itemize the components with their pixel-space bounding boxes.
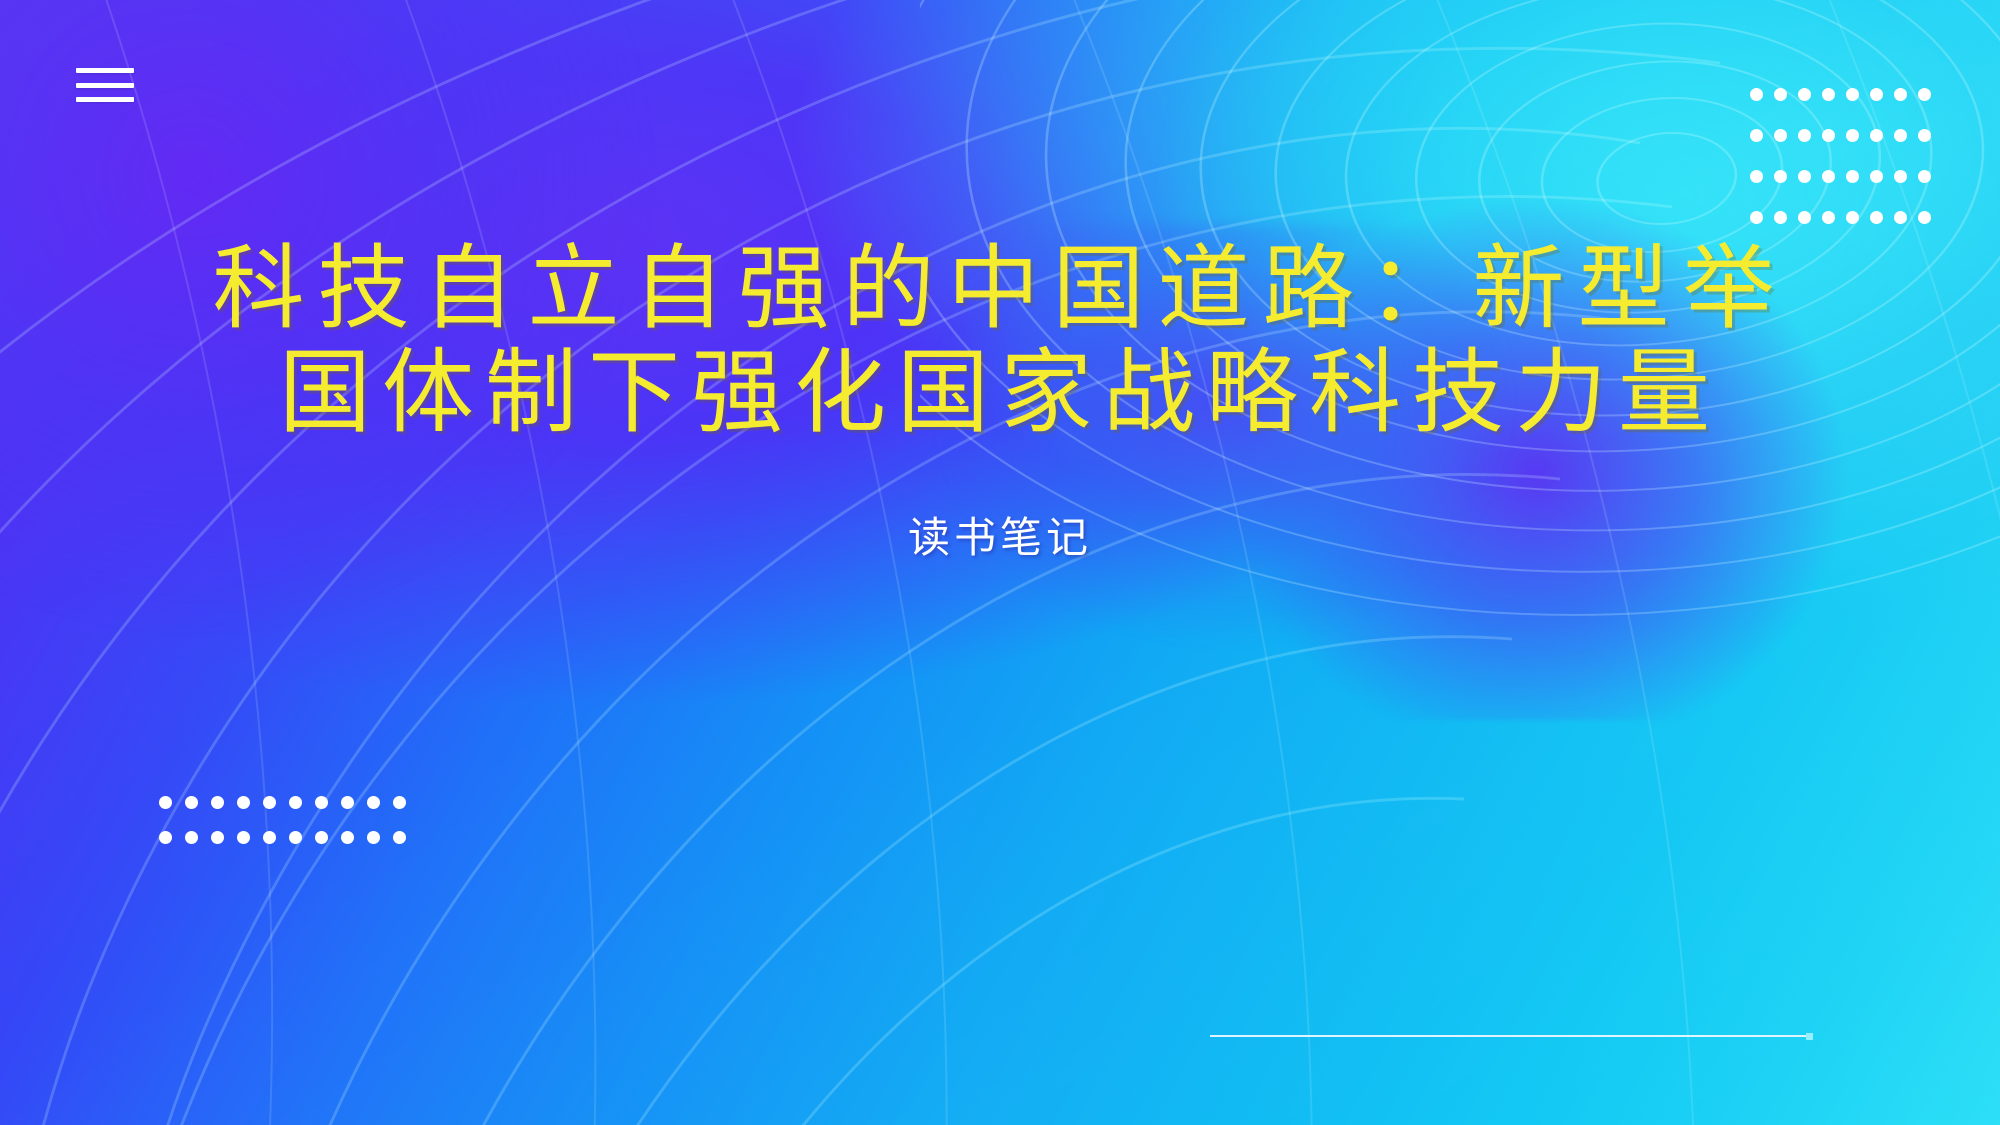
dot	[159, 796, 172, 809]
dot	[1822, 211, 1835, 224]
dot	[1918, 88, 1931, 101]
title-slide: 科技自立自强的中国道路：新型举 国体制下强化国家战略科技力量 读书笔记	[0, 0, 2000, 1125]
dot	[1894, 88, 1907, 101]
dot	[315, 831, 328, 844]
dot	[237, 831, 250, 844]
dot	[1918, 211, 1931, 224]
title-line-2: 国体制下强化国家战略科技力量	[130, 342, 1870, 446]
dot	[1918, 170, 1931, 183]
dot	[159, 831, 172, 844]
dot	[1750, 129, 1763, 142]
dot	[1870, 129, 1883, 142]
dot	[1750, 170, 1763, 183]
dot	[237, 796, 250, 809]
dot-grid-bottom-left	[152, 785, 412, 855]
dot	[1846, 170, 1859, 183]
dot	[211, 796, 224, 809]
dot	[1846, 88, 1859, 101]
dot	[367, 796, 380, 809]
dot	[185, 831, 198, 844]
dot	[1822, 88, 1835, 101]
hamburger-bar-2	[76, 83, 134, 88]
hamburger-bar-1	[76, 68, 134, 73]
dot	[289, 831, 302, 844]
title-block: 科技自立自强的中国道路：新型举 国体制下强化国家战略科技力量 读书笔记	[0, 238, 2000, 565]
dot	[1750, 211, 1763, 224]
dot	[393, 831, 406, 844]
dot-grid-top-right	[1744, 74, 1936, 238]
dot	[263, 796, 276, 809]
dot	[1774, 211, 1787, 224]
page-title: 科技自立自强的中国道路：新型举 国体制下强化国家战略科技力量	[130, 238, 1870, 446]
dot	[1822, 170, 1835, 183]
dot	[393, 796, 406, 809]
dot	[1798, 129, 1811, 142]
hamburger-menu-icon[interactable]	[76, 68, 134, 102]
dot	[341, 796, 354, 809]
dot	[1894, 211, 1907, 224]
dot	[1750, 88, 1763, 101]
dot	[1894, 170, 1907, 183]
dot	[1774, 170, 1787, 183]
dot	[211, 831, 224, 844]
dot	[1918, 129, 1931, 142]
dot	[1798, 88, 1811, 101]
dot	[263, 831, 276, 844]
dot	[1798, 170, 1811, 183]
slide-subtitle: 读书笔记	[130, 504, 1870, 565]
dot	[1870, 211, 1883, 224]
title-line-1: 科技自立自强的中国道路：新型举	[130, 238, 1870, 342]
dot	[289, 796, 302, 809]
bottom-accent-rule	[1210, 1035, 1810, 1037]
dot	[1870, 88, 1883, 101]
dot	[1846, 211, 1859, 224]
dot	[1822, 129, 1835, 142]
dot	[1894, 129, 1907, 142]
dot	[185, 796, 198, 809]
dot	[1774, 129, 1787, 142]
hamburger-bar-3	[76, 97, 134, 102]
dot	[1798, 211, 1811, 224]
dot	[341, 831, 354, 844]
dot	[1870, 170, 1883, 183]
dot	[315, 796, 328, 809]
dot	[1774, 88, 1787, 101]
dot	[1846, 129, 1859, 142]
dot	[367, 831, 380, 844]
